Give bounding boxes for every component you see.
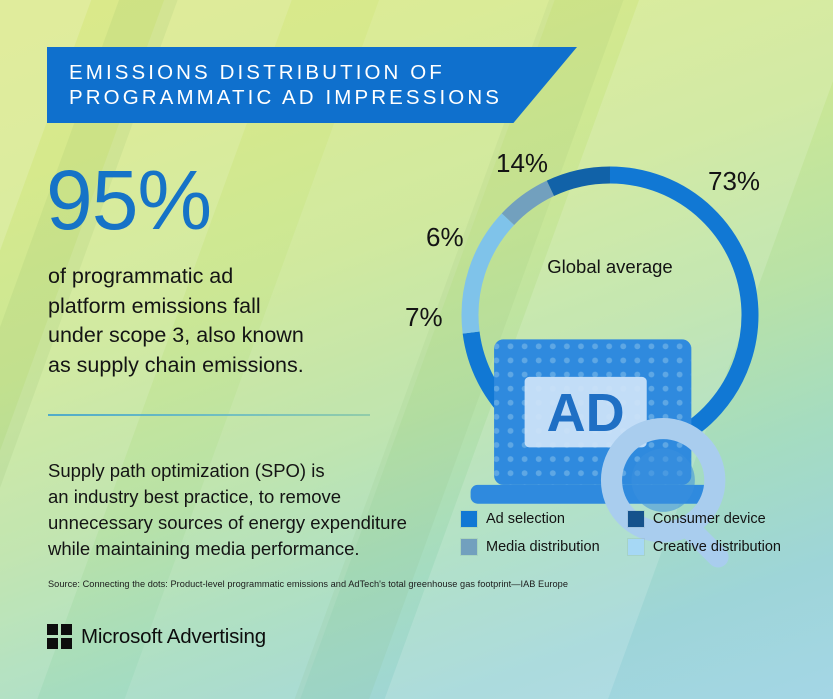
donut-segment xyxy=(508,188,550,219)
legend-item-label: Media distribution xyxy=(486,539,600,555)
microsoft-advertising-logo: Microsoft Advertising xyxy=(47,624,266,649)
legend-swatch-icon xyxy=(461,511,477,527)
legend-swatch-icon xyxy=(628,539,644,555)
legend-item-ad-selection: Ad selection xyxy=(461,505,614,533)
legend-item-label: Consumer device xyxy=(653,511,766,527)
infographic-canvas: EMISSIONS DISTRIBUTION OF PROGRAMMATIC A… xyxy=(0,0,833,699)
legend-item-creative-distribution: Creative distribution xyxy=(628,533,781,561)
legend-item-media-distribution: Media distribution xyxy=(461,533,614,561)
legend-item-label: Ad selection xyxy=(486,511,565,527)
legend-swatch-icon xyxy=(461,539,477,555)
chart-label-creative-distribution: 14% xyxy=(496,148,548,179)
donut-segment xyxy=(550,175,610,188)
svg-text:AD: AD xyxy=(547,383,625,443)
chart-legend: Ad selection Consumer device Media distr… xyxy=(461,505,781,561)
emissions-donut-chart: Global average AD xyxy=(455,160,765,470)
logo-wordmark: Microsoft Advertising xyxy=(81,625,266,649)
legend-item-consumer-device: Consumer device xyxy=(628,505,781,533)
legend-swatch-icon xyxy=(628,511,644,527)
chart-label-ad-selection: 73% xyxy=(708,166,760,197)
headline-statistic: 95% xyxy=(46,158,211,242)
chart-center-label: Global average xyxy=(455,256,765,278)
supporting-paragraph: Supply path optimization (SPO) is an ind… xyxy=(48,458,448,562)
page-title: EMISSIONS DISTRIBUTION OF PROGRAMMATIC A… xyxy=(69,60,502,110)
headline-statistic-description: of programmatic ad platform emissions fa… xyxy=(48,262,378,380)
legend-item-label: Creative distribution xyxy=(653,539,781,555)
chart-label-consumer-device: 7% xyxy=(405,302,443,333)
microsoft-squares-icon xyxy=(47,624,72,649)
section-divider xyxy=(48,414,370,416)
header-banner: EMISSIONS DISTRIBUTION OF PROGRAMMATIC A… xyxy=(47,47,577,123)
chart-label-media-distribution: 6% xyxy=(426,222,464,253)
